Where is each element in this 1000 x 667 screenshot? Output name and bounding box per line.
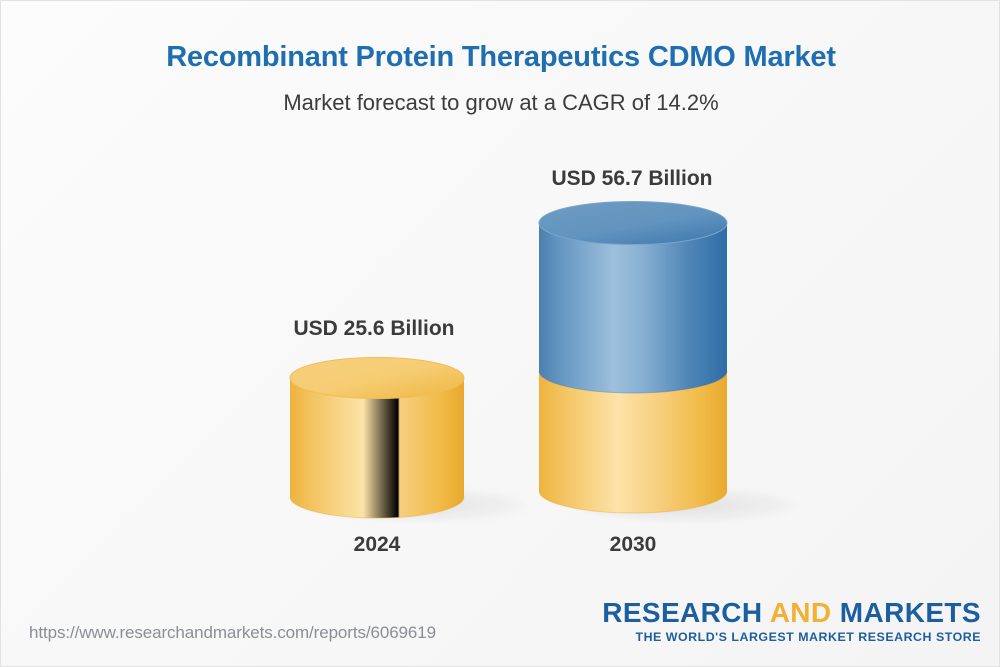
chart-canvas: Recombinant Protein Therapeutics CDMO Ma…	[0, 0, 1000, 667]
logo-word-research: RESEARCH	[602, 597, 762, 628]
bar-2024	[284, 357, 470, 523]
logo-wordmark: RESEARCH AND MARKETS	[602, 599, 981, 628]
value-label-2030: USD 56.7 Billion	[536, 167, 728, 191]
research-and-markets-logo[interactable]: RESEARCH AND MARKETS THE WORLD'S LARGEST…	[602, 599, 981, 644]
logo-word-markets: MARKETS	[840, 597, 981, 628]
source-url[interactable]: https://www.researchandmarkets.com/repor…	[29, 623, 436, 643]
logo-tagline: THE WORLD'S LARGEST MARKET RESEARCH STOR…	[602, 630, 981, 644]
category-label-2030: 2030	[533, 533, 733, 557]
category-label-2024: 2024	[284, 533, 470, 557]
logo-word-and: AND	[770, 597, 832, 628]
value-label-2024: USD 25.6 Billion	[284, 317, 464, 341]
bar-2030	[533, 201, 733, 523]
chart-plot-area: USD 25.6 Billion	[1, 1, 1000, 601]
